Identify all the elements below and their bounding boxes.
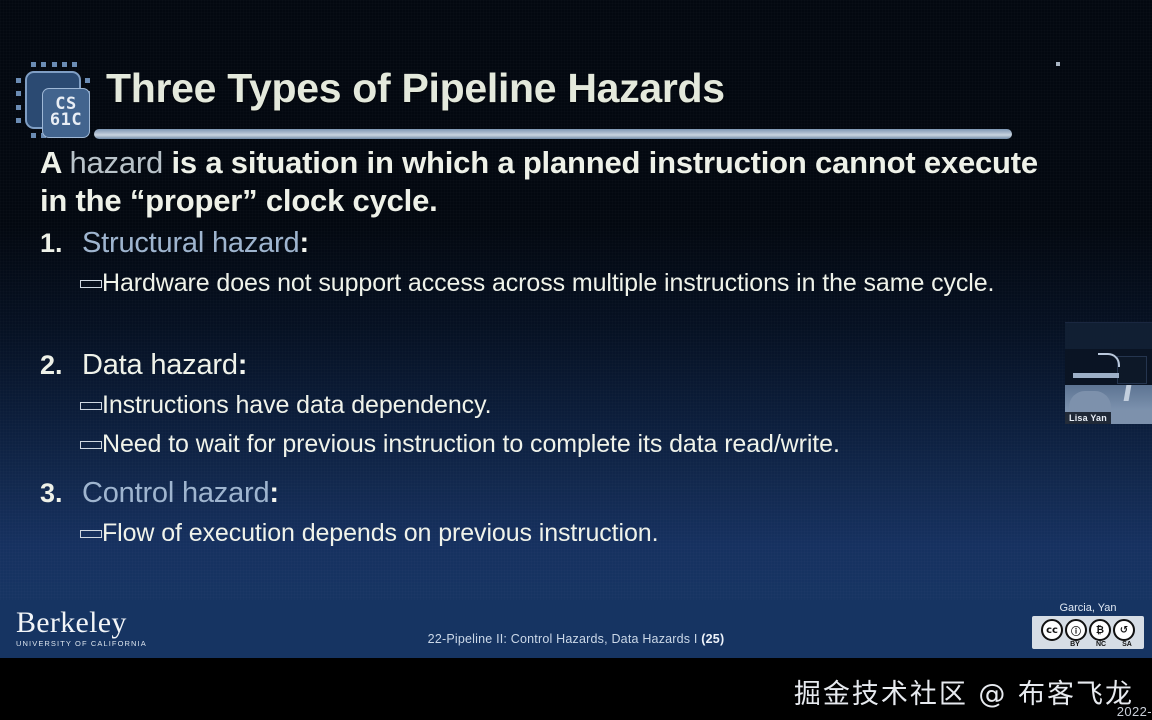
chip-label-line2: 61C xyxy=(50,113,82,129)
lead-paragraph: A hazard is a situation in which a plann… xyxy=(40,144,1045,220)
letterbox-band: 掘金技术社区 @ 布客飞龙 2022- xyxy=(0,658,1152,720)
chip-pins-left xyxy=(16,78,21,123)
square-bullet-icon xyxy=(80,402,102,410)
webcam-shelf xyxy=(1073,373,1119,378)
slide-footer: Berkeley UNIVERSITY OF CALIFORNIA 22-Pip… xyxy=(0,600,1152,658)
square-bullet-icon xyxy=(80,280,102,288)
cc-label-by: BY xyxy=(1063,641,1087,648)
sub-bullet: Flow of execution depends on previous in… xyxy=(40,517,1050,549)
presenter-name-label: Lisa Yan xyxy=(1065,412,1111,424)
webcam-lower-strip xyxy=(1111,410,1152,424)
watermark-text: 掘金技术社区 @ 布客飞龙 xyxy=(794,672,1134,711)
list-item-title-colon: : xyxy=(269,477,278,509)
sub-bullet: Instructions have data dependency. xyxy=(40,389,1050,421)
chip-pins-top xyxy=(31,62,77,67)
list-item-title: Data hazard: xyxy=(82,350,247,382)
sub-bullet: Need to wait for previous instruction to… xyxy=(40,428,1050,460)
list-item: 2. Data hazard: Instructions have data d… xyxy=(40,350,1050,460)
lead-after: is a situation in which a planned instru… xyxy=(40,145,1038,218)
list-item-title-colon: : xyxy=(299,227,308,259)
webcam-video-feed xyxy=(1065,323,1152,424)
slide-number: (25) xyxy=(701,632,724,646)
stray-dot-artifact xyxy=(1056,62,1060,66)
square-bullet-icon xyxy=(80,530,102,538)
list-item-heading: 2. Data hazard: xyxy=(40,350,1050,382)
sub-bullet-text: Need to wait for previous instruction to… xyxy=(102,428,840,460)
creative-commons-badge[interactable]: cc ⓘ ₿ ↺ BY NC SA xyxy=(1032,616,1144,649)
presentation-slide: CS 61C Three Types of Pipeline Hazards A… xyxy=(0,0,1152,658)
chip-label: CS 61C xyxy=(42,88,90,138)
cc-label-sa: SA xyxy=(1115,641,1139,648)
list-item: 1. Structural hazard: Hardware does not … xyxy=(40,228,1050,299)
list-item-title-text: Structural hazard xyxy=(82,227,299,259)
webcam-monitor xyxy=(1117,356,1147,384)
list-item-number: 2. xyxy=(40,350,82,381)
list-item-heading: 3. Control hazard: xyxy=(40,478,1050,510)
license-block: Garcia, Yan cc ⓘ ₿ ↺ BY NC SA xyxy=(1032,602,1144,649)
deck-title-text: 22-Pipeline II: Control Hazards, Data Ha… xyxy=(428,632,702,646)
sub-bullet: Hardware does not support access across … xyxy=(40,267,1050,299)
title-underline-rule xyxy=(94,129,1012,139)
cc-label-nc: NC xyxy=(1089,641,1113,648)
cs61c-chip-logo: CS 61C xyxy=(14,60,92,140)
list-item-title: Control hazard: xyxy=(82,478,279,510)
cc-label-row: BY NC SA xyxy=(1037,641,1139,648)
lead-before: A xyxy=(40,145,69,180)
presenter-webcam-panel[interactable]: Lisa Yan xyxy=(1065,322,1152,424)
webcam-wall xyxy=(1065,323,1152,349)
slide-title: Three Types of Pipeline Hazards xyxy=(106,68,1006,109)
cc-nc-icon: ₿ xyxy=(1089,619,1111,641)
sub-bullet-text: Hardware does not support access across … xyxy=(102,267,994,299)
list-item-title-colon: : xyxy=(238,349,247,381)
cc-icon-row: cc ⓘ ₿ ↺ xyxy=(1041,619,1135,641)
screen: CS 61C Three Types of Pipeline Hazards A… xyxy=(0,0,1152,720)
list-item: 3. Control hazard: Flow of execution dep… xyxy=(40,478,1050,549)
list-item-number: 1. xyxy=(40,228,82,259)
cc-sa-icon: ↺ xyxy=(1113,619,1135,641)
chip-body: CS 61C xyxy=(25,71,81,129)
list-item-heading: 1. Structural hazard: xyxy=(40,228,1050,260)
square-bullet-icon xyxy=(80,441,102,449)
watermark-date: 2022- xyxy=(1117,704,1152,719)
sub-bullet-text: Instructions have data dependency. xyxy=(102,389,491,421)
authors-label: Garcia, Yan xyxy=(1032,602,1144,614)
list-item-title: Structural hazard: xyxy=(82,228,309,260)
lead-keyword: hazard xyxy=(69,145,163,180)
footer-deck-title: 22-Pipeline II: Control Hazards, Data Ha… xyxy=(0,600,1152,646)
list-item-number: 3. xyxy=(40,478,82,509)
cc-logo-icon: cc xyxy=(1041,619,1063,641)
list-item-title-text: Control hazard xyxy=(82,477,269,509)
cc-by-icon: ⓘ xyxy=(1065,619,1087,641)
sub-bullet-text: Flow of execution depends on previous in… xyxy=(102,517,658,549)
list-item-title-text: Data hazard xyxy=(82,349,238,381)
